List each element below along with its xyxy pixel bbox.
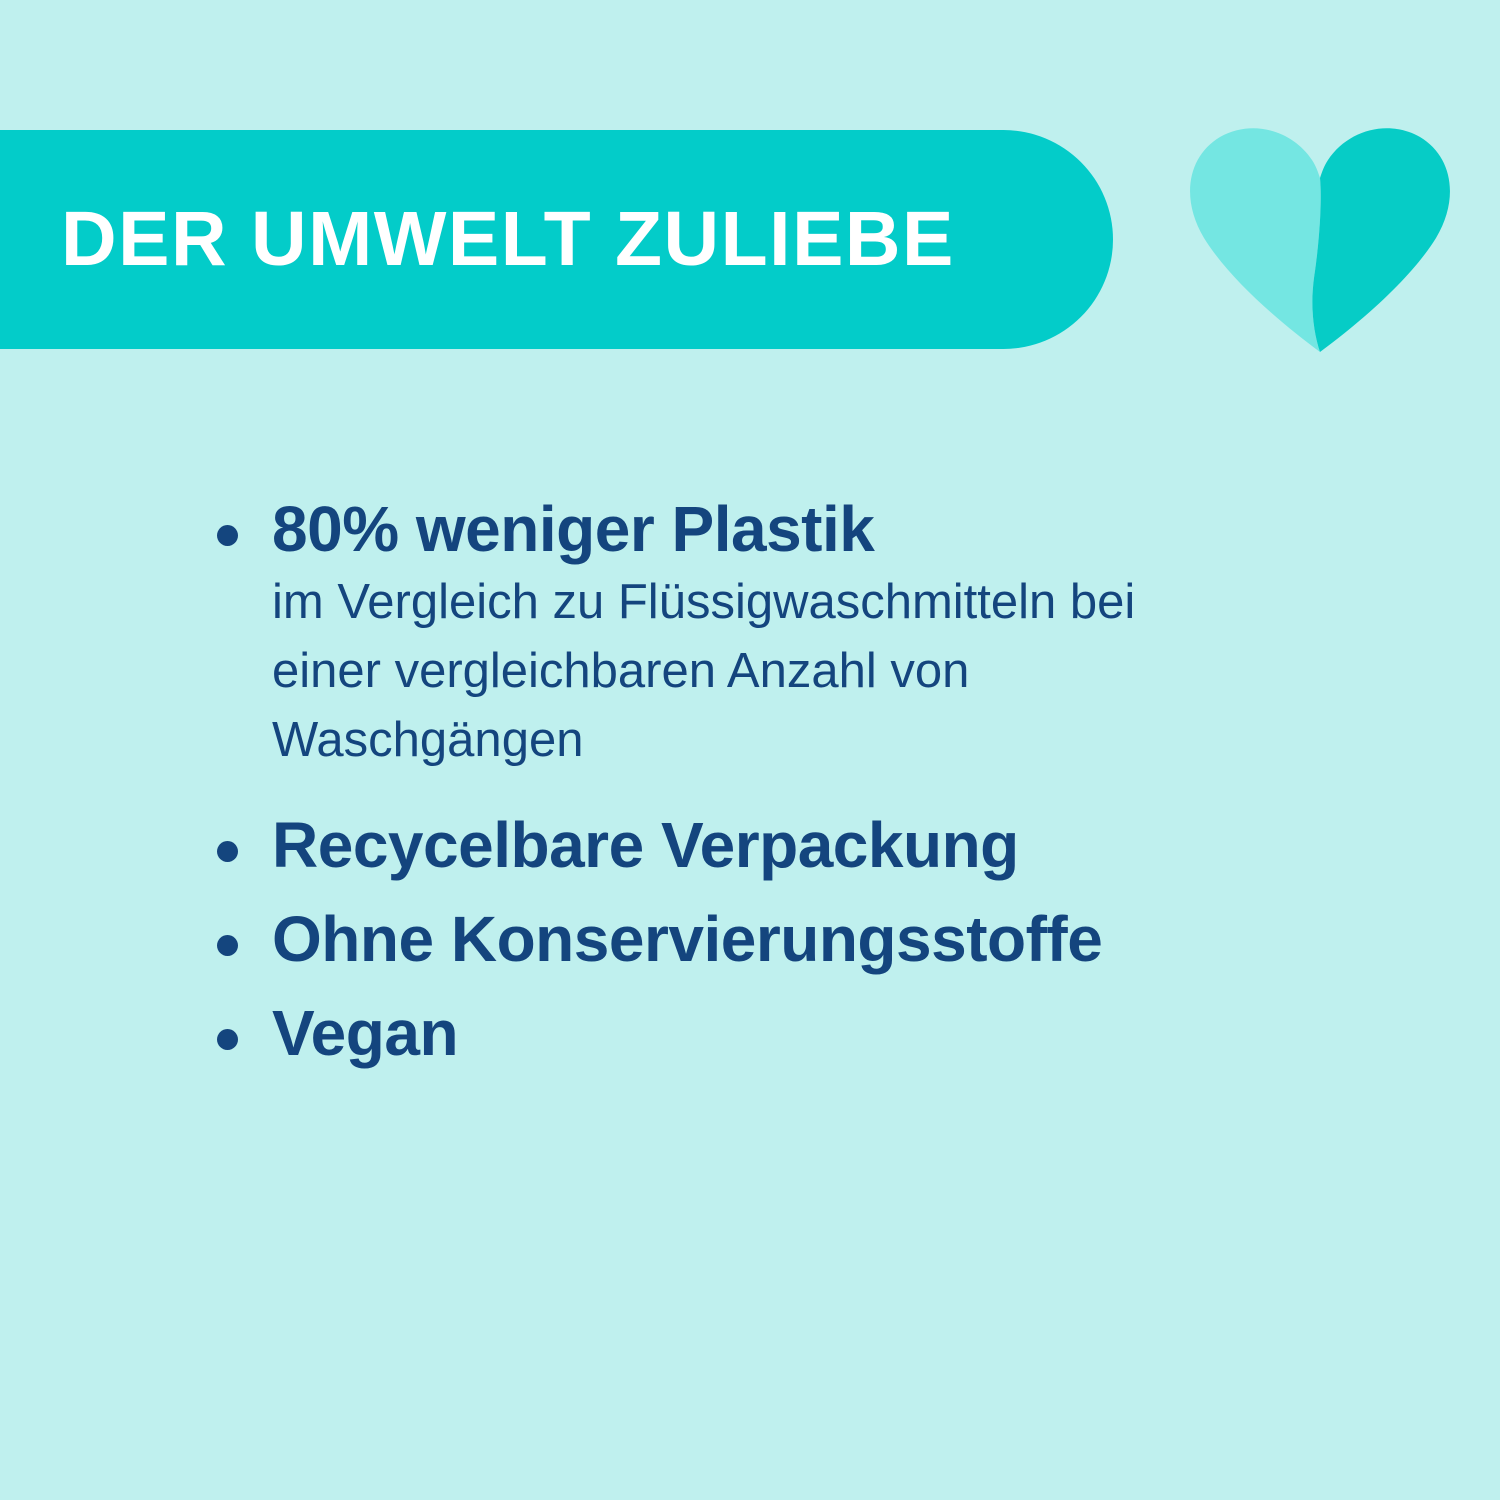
benefit-list: 80% weniger Plastik im Vergleich zu Flüs…: [0, 495, 1500, 1065]
list-item: 80% weniger Plastik im Vergleich zu Flüs…: [0, 495, 1500, 775]
list-item: Recycelbare Verpackung: [0, 813, 1500, 877]
lead-bullet-headline: 80% weniger Plastik: [272, 495, 1500, 564]
bullet-label-ohne-konservierungsstoffe: Ohne Konservierungsstoffe: [272, 907, 1500, 971]
bullet-dot-icon: [217, 525, 238, 546]
eco-banner: DER UMWELT ZULIEBE: [0, 130, 1113, 349]
promo-poster: DER UMWELT ZULIEBE 80% weniger Plastik i…: [0, 0, 1500, 1500]
bullet-label-recycelbare-verpackung: Recycelbare Verpackung: [272, 813, 1500, 877]
bullet-dot-icon: [217, 841, 238, 862]
banner-title: DER UMWELT ZULIEBE: [61, 201, 955, 278]
bullet-label-vegan: Vegan: [272, 1001, 1500, 1065]
heart-right-half: [1312, 128, 1450, 352]
bullet-dot-icon: [217, 935, 238, 956]
list-item: Ohne Konservierungsstoffe: [0, 907, 1500, 971]
list-item: Vegan: [0, 1001, 1500, 1065]
heart-left-half: [1190, 128, 1321, 352]
split-heart-icon: [1186, 128, 1454, 352]
bullet-dot-icon: [217, 1029, 238, 1050]
lead-bullet-detail: im Vergleich zu Flüssigwaschmitteln bei …: [272, 568, 1192, 775]
